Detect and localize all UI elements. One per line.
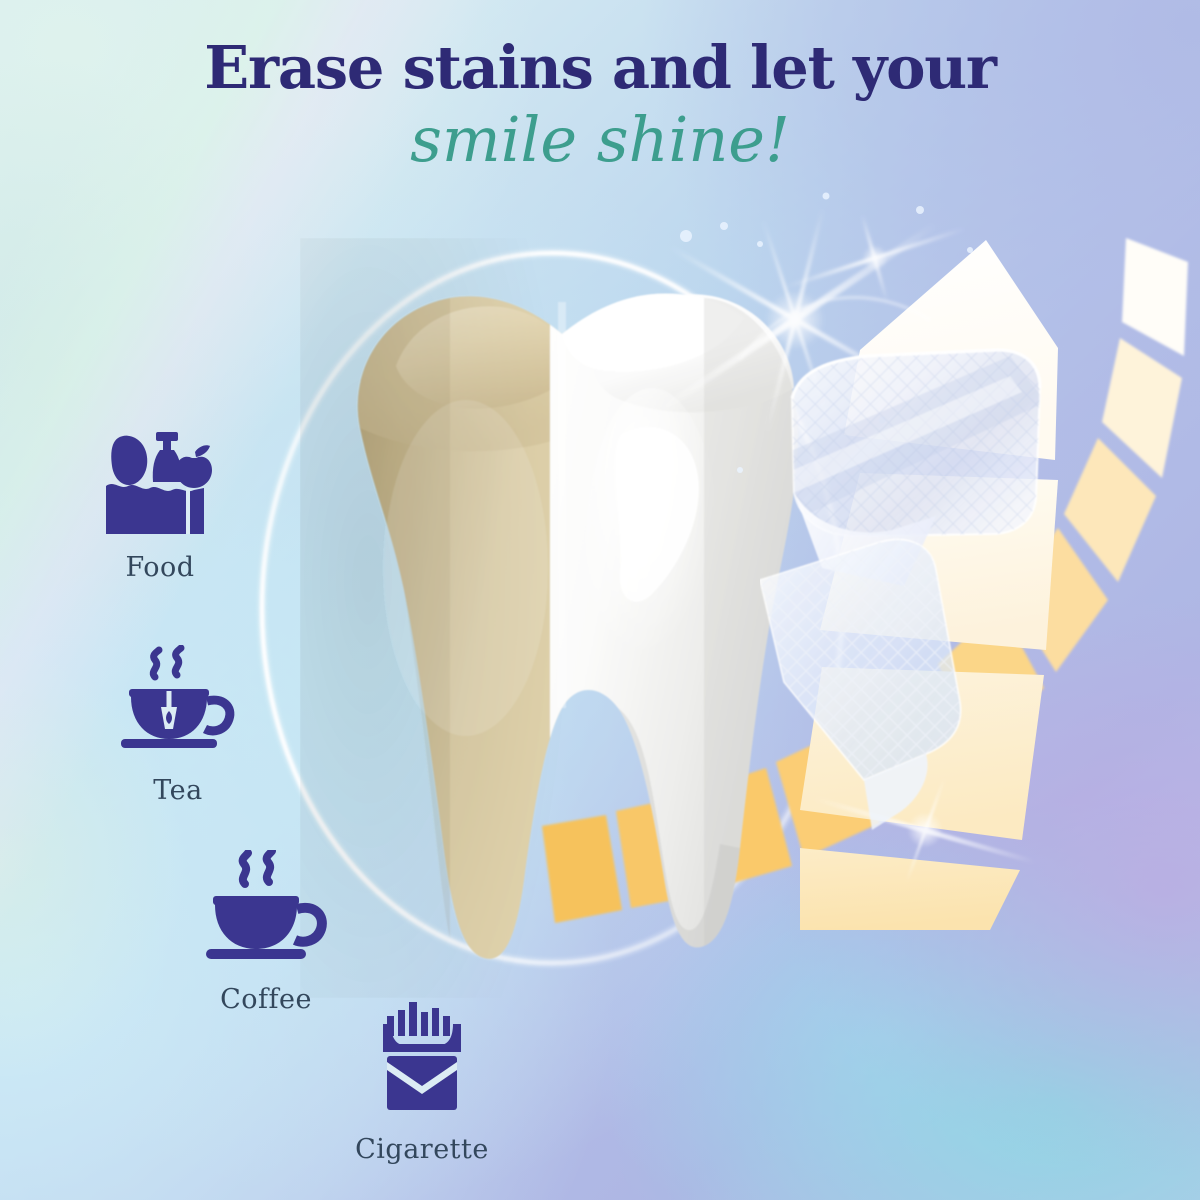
- stain-source-label: Tea: [78, 775, 278, 806]
- coffee-cup-icon: [205, 850, 327, 972]
- cigarette-pack-icon: [369, 1000, 475, 1122]
- headline-line-2: smile shine!: [0, 106, 1200, 174]
- cigarettes: [387, 1002, 450, 1036]
- poster-canvas: Food Tea: [0, 0, 1200, 1200]
- stain-source-tea[interactable]: Tea: [78, 645, 278, 806]
- stain-source-label: Food: [60, 552, 260, 583]
- stain-source-food[interactable]: Food: [60, 430, 260, 583]
- stain-sources-list: Food Tea: [0, 430, 520, 1170]
- headline-line-1: Erase stains and let your: [0, 38, 1200, 98]
- stain-source-cigarette[interactable]: Cigarette: [312, 1000, 532, 1165]
- teacup-icon: [119, 645, 237, 763]
- stain-source-coffee[interactable]: Coffee: [166, 850, 366, 1015]
- grocery-bag-icon: [100, 430, 220, 540]
- headline: Erase stains and let your smile shine!: [0, 38, 1200, 174]
- whitening-strip: [760, 330, 1120, 910]
- stain-source-label: Cigarette: [312, 1134, 532, 1165]
- steam: [243, 851, 272, 884]
- steam: [153, 648, 181, 677]
